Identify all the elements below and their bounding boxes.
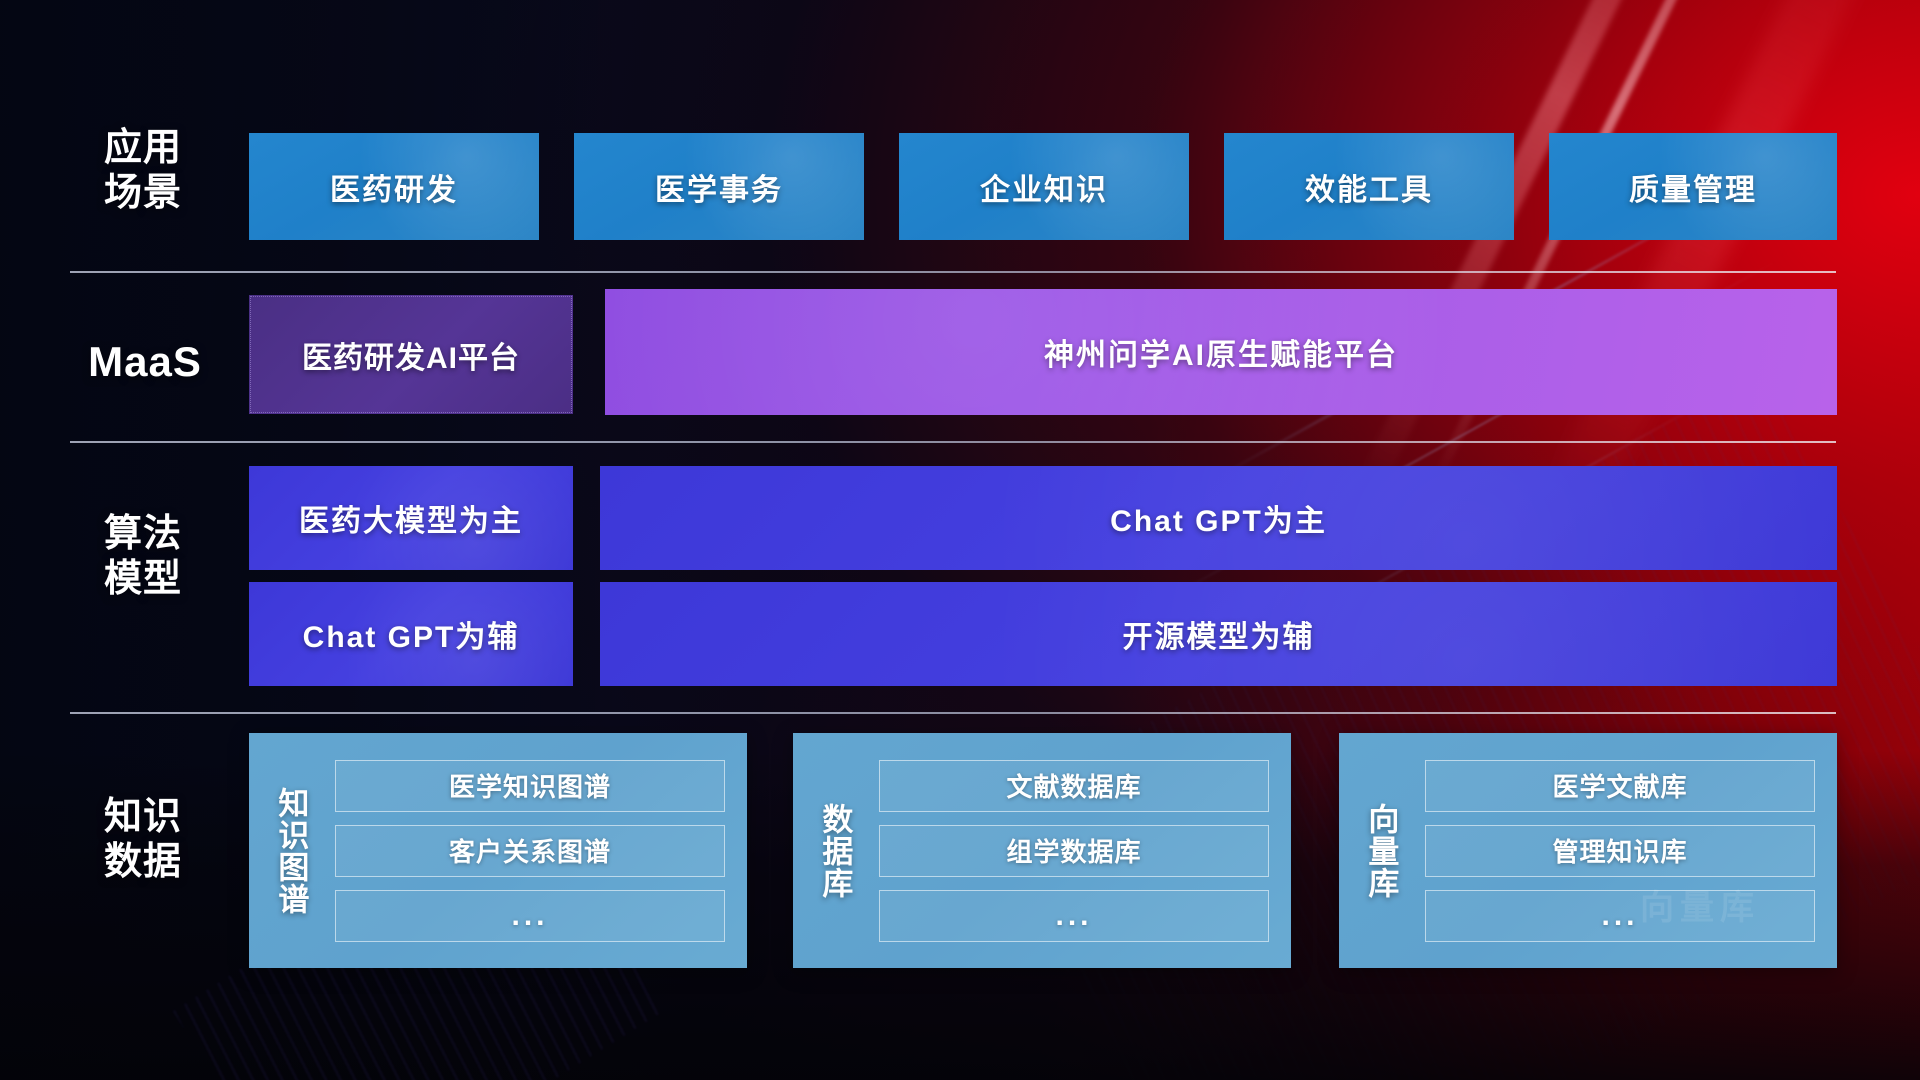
row-label-maas: MaaS xyxy=(70,337,220,387)
model-box-label: Chat GPT为辅 xyxy=(303,612,520,656)
scenario-box-label: 质量管理 xyxy=(1629,165,1757,209)
row-label-line: 场景 xyxy=(78,171,208,216)
knowledge-item[interactable]: 文献数据库 xyxy=(879,760,1269,812)
row-label-line: 应用 xyxy=(78,126,208,171)
knowledge-item-more[interactable]: ... xyxy=(335,890,725,942)
row-label-line: 知识 xyxy=(78,795,208,840)
row-label-application-scenario: 应用 场景 xyxy=(78,126,208,216)
maas-box-label: 医药研发AI平台 xyxy=(302,333,520,377)
knowledge-group-items: 医学文献库 管理知识库 ... xyxy=(1421,733,1837,968)
model-box-left-primary[interactable]: 医药大模型为主 xyxy=(249,466,573,570)
knowledge-group-items: 医学知识图谱 客户关系图谱 ... xyxy=(331,733,747,968)
knowledge-group-title: 知识图谱 xyxy=(249,733,331,968)
model-box-left-secondary[interactable]: Chat GPT为辅 xyxy=(249,582,573,686)
knowledge-item-more[interactable]: ... xyxy=(879,890,1269,942)
scenario-box-1[interactable]: 医药研发 xyxy=(249,133,539,240)
knowledge-item-more[interactable]: ... xyxy=(1425,890,1815,942)
knowledge-group-knowledge-graph[interactable]: 知识图谱 医学知识图谱 客户关系图谱 ... xyxy=(249,733,747,968)
knowledge-group-title: 数据库 xyxy=(793,733,875,968)
scenario-box-label: 效能工具 xyxy=(1305,165,1433,209)
model-box-right-primary[interactable]: Chat GPT为主 xyxy=(600,466,1837,570)
scenario-box-label: 医药研发 xyxy=(330,165,458,209)
model-box-right-secondary[interactable]: 开源模型为辅 xyxy=(600,582,1837,686)
knowledge-item[interactable]: 组学数据库 xyxy=(879,825,1269,877)
maas-box-label: 神州问学AI原生赋能平台 xyxy=(1044,330,1398,374)
scenario-box-5[interactable]: 质量管理 xyxy=(1549,133,1837,240)
knowledge-item[interactable]: 管理知识库 xyxy=(1425,825,1815,877)
divider-line-3 xyxy=(70,712,1836,714)
row-label-knowledge-data: 知识 数据 xyxy=(78,795,208,885)
scenario-box-2[interactable]: 医学事务 xyxy=(574,133,864,240)
row-label-line: 算法 xyxy=(78,512,208,557)
scenario-box-label: 企业知识 xyxy=(980,165,1108,209)
knowledge-item[interactable]: 客户关系图谱 xyxy=(335,825,725,877)
knowledge-group-vector-store[interactable]: 向量库 医学文献库 管理知识库 ... xyxy=(1339,733,1837,968)
knowledge-item[interactable]: 医学知识图谱 xyxy=(335,760,725,812)
architecture-diagram: 应用 场景 医药研发 医学事务 企业知识 效能工具 质量管理 MaaS 医药研发… xyxy=(0,0,1920,1080)
maas-box-pharma-ai-platform[interactable]: 医药研发AI平台 xyxy=(249,295,573,414)
divider-line-1 xyxy=(70,271,1836,273)
knowledge-group-database[interactable]: 数据库 文献数据库 组学数据库 ... xyxy=(793,733,1291,968)
model-box-label: 开源模型为辅 xyxy=(1123,612,1315,656)
scenario-box-label: 医学事务 xyxy=(655,165,783,209)
row-label-algorithm-model: 算法 模型 xyxy=(78,512,208,602)
scenario-box-3[interactable]: 企业知识 xyxy=(899,133,1189,240)
row-label-line: 数据 xyxy=(78,840,208,885)
knowledge-item[interactable]: 医学文献库 xyxy=(1425,760,1815,812)
scenario-box-4[interactable]: 效能工具 xyxy=(1224,133,1514,240)
maas-box-shenzhou-platform[interactable]: 神州问学AI原生赋能平台 xyxy=(605,289,1837,415)
divider-line-2 xyxy=(70,441,1836,443)
model-box-label: Chat GPT为主 xyxy=(1110,496,1327,540)
knowledge-group-items: 文献数据库 组学数据库 ... xyxy=(875,733,1291,968)
row-label-line: MaaS xyxy=(70,337,220,387)
model-box-label: 医药大模型为主 xyxy=(299,496,523,540)
knowledge-group-title: 向量库 xyxy=(1339,733,1421,968)
row-label-line: 模型 xyxy=(78,557,208,602)
